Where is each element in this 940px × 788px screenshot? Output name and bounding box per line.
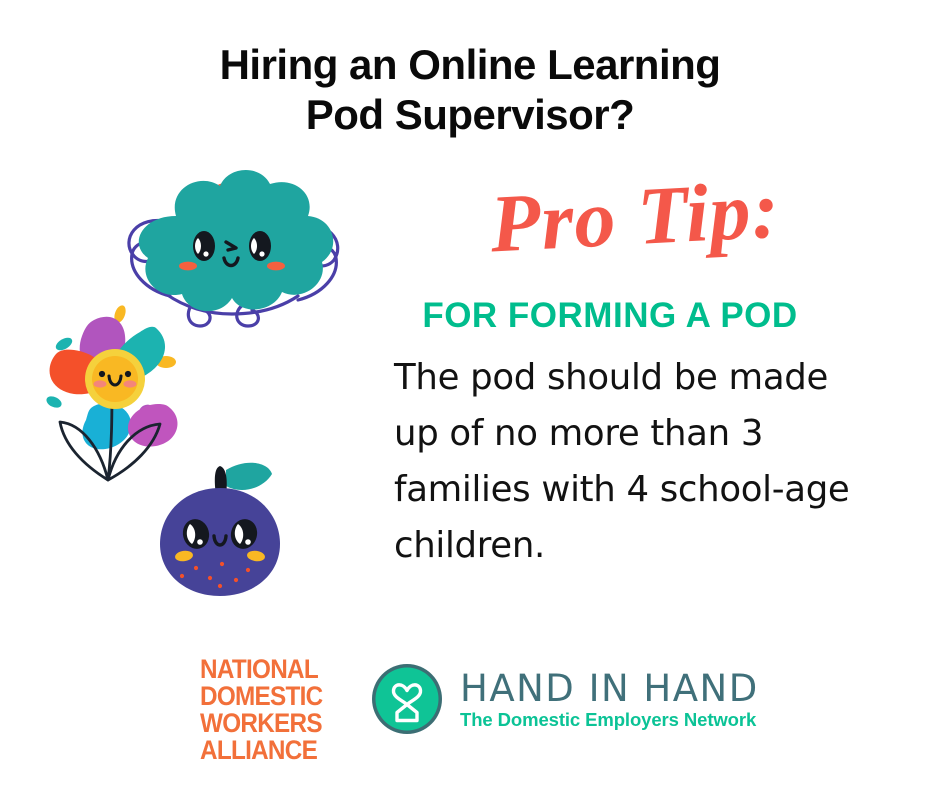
smiling-plum-illustration [152,452,288,600]
hand-in-hand-tagline: The Domestic Employers Network [460,710,759,730]
footer-logos: NATIONAL DOMESTIC WORKERS ALLIANCE HAND … [0,648,940,768]
plum-body [160,488,280,596]
plum-leaf-icon [226,463,272,490]
hand-in-hand-wordmark: HAND IN HAND The Domestic Employers Netw… [460,668,759,730]
flower-face [85,349,145,409]
hand-in-hand-logo: HAND IN HAND The Domestic Employers Netw… [370,662,759,736]
poster-canvas: Hiring an Online Learning Pod Supervisor… [0,0,940,788]
heart-house-icon [370,662,444,736]
ndwa-line-1: NATIONAL [200,656,337,683]
pro-tip-script-label: Pro Tip: [398,164,872,270]
hand-in-hand-title: HAND IN HAND [460,670,759,708]
page-title: Hiring an Online Learning Pod Supervisor… [0,40,940,139]
pro-tip-body-text: The pod should be made up of no more tha… [394,350,854,574]
cloud-body [139,170,333,311]
ndwa-line-2: DOMESTIC [200,683,337,710]
national-domestic-workers-alliance-logo: NATIONAL DOMESTIC WORKERS ALLIANCE [200,656,352,764]
ndwa-line-4: ALLIANCE [200,737,337,764]
pro-tip-subtitle: FOR FORMING A POD [320,296,900,336]
ndwa-line-3: WORKERS [200,710,337,737]
